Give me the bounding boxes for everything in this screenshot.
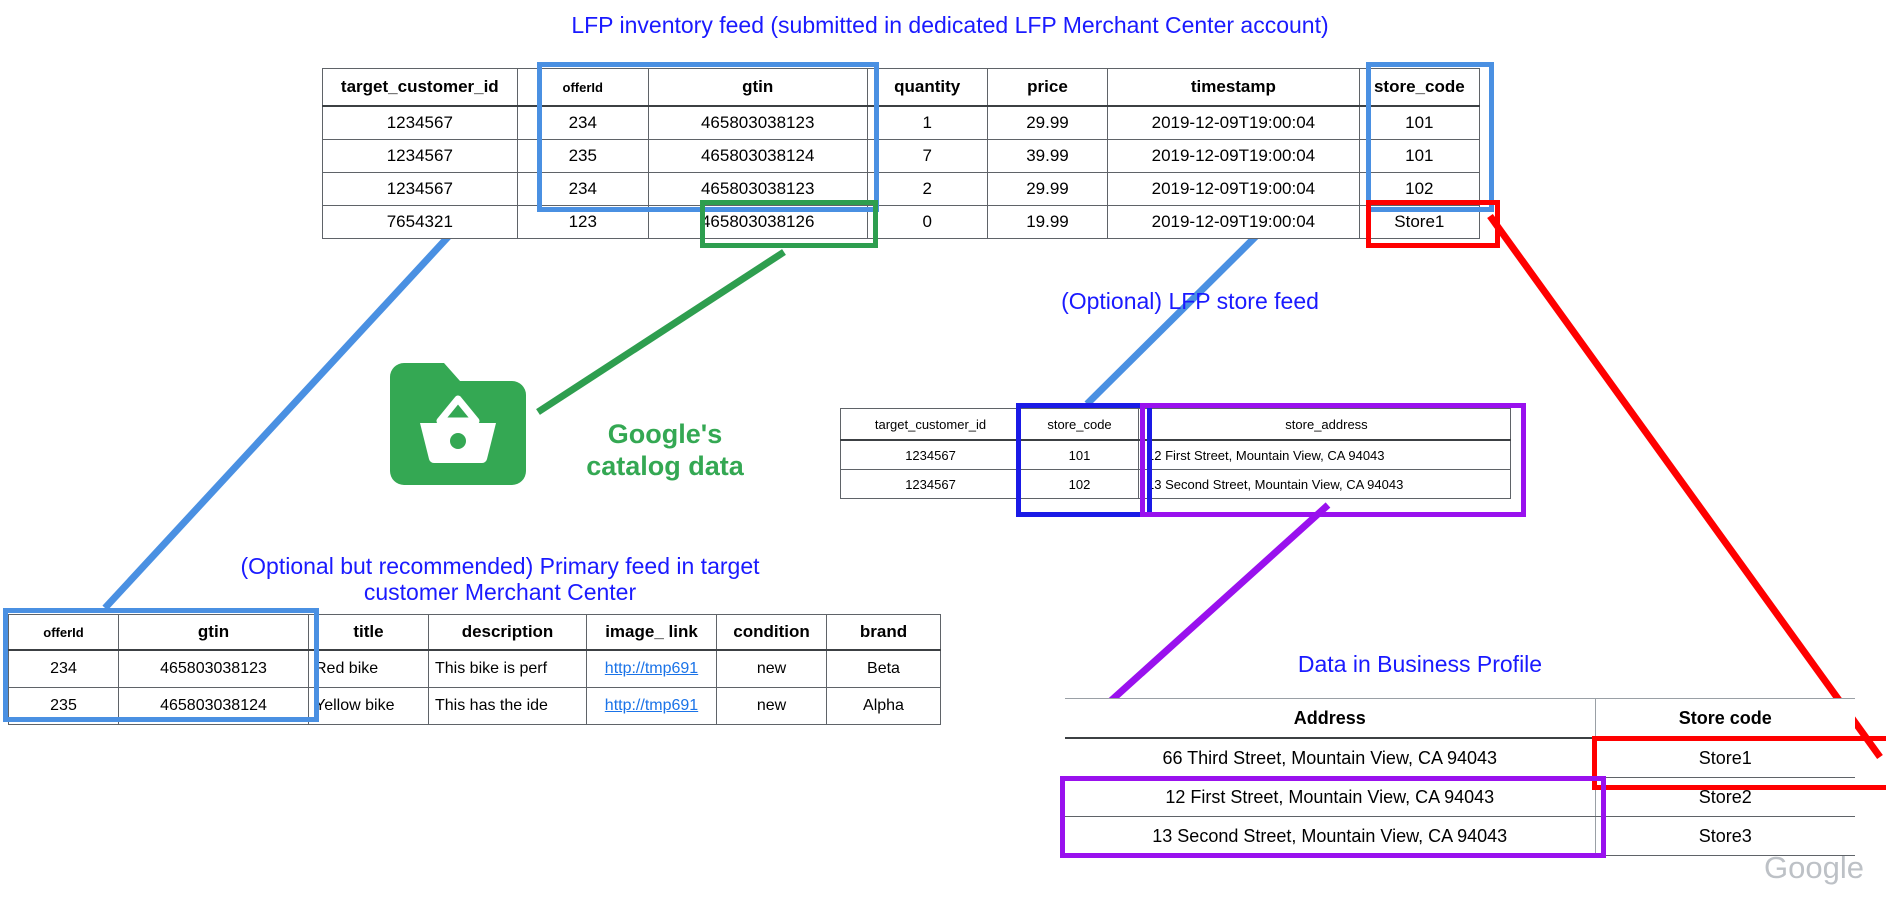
lfp-store-feed-table: target_customer_id store_code store_addr… bbox=[840, 408, 1511, 499]
google-watermark: Google bbox=[1764, 850, 1864, 886]
table-header-row: Address Store code bbox=[1065, 699, 1855, 739]
cell-gtin: 465803038124 bbox=[119, 688, 309, 725]
col-header-store-code: store_code bbox=[1021, 409, 1139, 441]
cell-gtin: 465803038123 bbox=[648, 106, 867, 140]
cell-gtin: 465803038126 bbox=[648, 206, 867, 239]
primary-feed-table: offerId gtin title description image_ li… bbox=[8, 614, 941, 725]
cell-quantity: 2 bbox=[867, 173, 987, 206]
connector-gtin-to-catalog bbox=[538, 252, 784, 412]
table-header-row: offerId gtin title description image_ li… bbox=[9, 615, 941, 651]
cell-offerid: 235 bbox=[517, 140, 648, 173]
cell-timestamp: 2019-12-09T19:00:04 bbox=[1108, 106, 1360, 140]
col-header-offerid: offerId bbox=[517, 69, 648, 107]
image-link[interactable]: http://tmp691 bbox=[605, 697, 698, 714]
table-row: 1234567 234 465803038123 2 29.99 2019-12… bbox=[323, 173, 1480, 206]
google-catalog-data-label: Google's catalog data bbox=[560, 418, 770, 483]
cell-store-code: 101 bbox=[1359, 106, 1479, 140]
cell-condition: new bbox=[717, 688, 827, 725]
cell-target-customer-id: 1234567 bbox=[323, 173, 518, 206]
cell-description: This has the ide bbox=[429, 688, 587, 725]
cell-timestamp: 2019-12-09T19:00:04 bbox=[1108, 140, 1360, 173]
col-header-store-address: store_address bbox=[1139, 409, 1511, 441]
cell-target-customer-id: 1234567 bbox=[841, 440, 1021, 470]
table-row: 1234567 235 465803038124 7 39.99 2019-12… bbox=[323, 140, 1480, 173]
table-header-row: target_customer_id store_code store_addr… bbox=[841, 409, 1511, 441]
cell-offerid: 234 bbox=[517, 173, 648, 206]
col-header-address: Address bbox=[1065, 699, 1595, 739]
cell-quantity: 7 bbox=[867, 140, 987, 173]
cell-quantity: 1 bbox=[867, 106, 987, 140]
cell-target-customer-id: 7654321 bbox=[323, 206, 518, 239]
cell-store-code: 102 bbox=[1021, 470, 1139, 499]
business-profile-table: Address Store code 66 Third Street, Moun… bbox=[1065, 698, 1855, 856]
table-row: 13 Second Street, Mountain View, CA 9404… bbox=[1065, 817, 1855, 856]
cell-target-customer-id: 1234567 bbox=[841, 470, 1021, 499]
cell-store-code: 101 bbox=[1359, 140, 1479, 173]
cell-brand: Alpha bbox=[827, 688, 941, 725]
cell-offerid: 235 bbox=[9, 688, 119, 725]
cell-address: 12 First Street, Mountain View, CA 94043 bbox=[1065, 778, 1595, 817]
cell-timestamp: 2019-12-09T19:00:04 bbox=[1108, 173, 1360, 206]
col-header-image-link: image_ link bbox=[587, 615, 717, 651]
cell-brand: Beta bbox=[827, 650, 941, 688]
caption-lfp-inventory-feed: LFP inventory feed (submitted in dedicat… bbox=[420, 12, 1480, 38]
cell-price: 39.99 bbox=[987, 140, 1107, 173]
cell-price: 29.99 bbox=[987, 106, 1107, 140]
cell-title: Red bike bbox=[309, 650, 429, 688]
col-header-timestamp: timestamp bbox=[1108, 69, 1360, 107]
cell-offerid: 123 bbox=[517, 206, 648, 239]
col-header-brand: brand bbox=[827, 615, 941, 651]
diagram-canvas: LFP inventory feed (submitted in dedicat… bbox=[0, 0, 1886, 900]
col-header-condition: condition bbox=[717, 615, 827, 651]
cell-store-code: Store1 bbox=[1595, 738, 1855, 778]
table-row: 66 Third Street, Mountain View, CA 94043… bbox=[1065, 738, 1855, 778]
col-header-description: description bbox=[429, 615, 587, 651]
cell-price: 19.99 bbox=[987, 206, 1107, 239]
cell-title: Yellow bike bbox=[309, 688, 429, 725]
cell-target-customer-id: 1234567 bbox=[323, 106, 518, 140]
col-header-target-customer-id: target_customer_id bbox=[323, 69, 518, 107]
cell-store-code: Store2 bbox=[1595, 778, 1855, 817]
image-link[interactable]: http://tmp691 bbox=[605, 660, 698, 677]
col-header-title: title bbox=[309, 615, 429, 651]
cell-offerid: 234 bbox=[517, 106, 648, 140]
cell-address: 13 Second Street, Mountain View, CA 9404… bbox=[1065, 817, 1595, 856]
col-header-price: price bbox=[987, 69, 1107, 107]
cell-gtin: 465803038123 bbox=[648, 173, 867, 206]
table-row: 12 First Street, Mountain View, CA 94043… bbox=[1065, 778, 1855, 817]
col-header-store-code: store_code bbox=[1359, 69, 1479, 107]
cell-quantity: 0 bbox=[867, 206, 987, 239]
cell-store-code: Store1 bbox=[1359, 206, 1479, 239]
table-row: 234 465803038123 Red bike This bike is p… bbox=[9, 650, 941, 688]
cell-gtin: 465803038124 bbox=[648, 140, 867, 173]
col-header-gtin: gtin bbox=[119, 615, 309, 651]
folder-basket-icon bbox=[382, 355, 534, 485]
col-header-quantity: quantity bbox=[867, 69, 987, 107]
col-header-store-code: Store code bbox=[1595, 699, 1855, 739]
cell-timestamp: 2019-12-09T19:00:04 bbox=[1108, 206, 1360, 239]
table-header-row: target_customer_id offerId gtin quantity… bbox=[323, 69, 1480, 107]
table-row: 235 465803038124 Yellow bike This has th… bbox=[9, 688, 941, 725]
caption-data-in-business-profile: Data in Business Profile bbox=[1180, 651, 1660, 677]
cell-image-link: http://tmp691 bbox=[587, 650, 717, 688]
col-header-target-customer-id: target_customer_id bbox=[841, 409, 1021, 441]
cell-address: 66 Third Street, Mountain View, CA 94043 bbox=[1065, 738, 1595, 778]
cell-image-link: http://tmp691 bbox=[587, 688, 717, 725]
col-header-gtin: gtin bbox=[648, 69, 867, 107]
cell-description: This bike is perf bbox=[429, 650, 587, 688]
lfp-inventory-feed-table: target_customer_id offerId gtin quantity… bbox=[322, 68, 1480, 239]
cell-condition: new bbox=[717, 650, 827, 688]
cell-store-address: 12 First Street, Mountain View, CA 94043 bbox=[1139, 440, 1511, 470]
table-row: 7654321 123 465803038126 0 19.99 2019-12… bbox=[323, 206, 1480, 239]
table-row: 1234567 234 465803038123 1 29.99 2019-12… bbox=[323, 106, 1480, 140]
cell-store-address: 13 Second Street, Mountain View, CA 9404… bbox=[1139, 470, 1511, 499]
caption-lfp-store-feed: (Optional) LFP store feed bbox=[940, 288, 1440, 314]
cell-store-code: 101 bbox=[1021, 440, 1139, 470]
cell-offerid: 234 bbox=[9, 650, 119, 688]
caption-primary-feed: (Optional but recommended) Primary feed … bbox=[170, 553, 830, 606]
cell-price: 29.99 bbox=[987, 173, 1107, 206]
table-row: 1234567 101 12 First Street, Mountain Vi… bbox=[841, 440, 1511, 470]
cell-gtin: 465803038123 bbox=[119, 650, 309, 688]
cell-store-code: 102 bbox=[1359, 173, 1479, 206]
col-header-offerid: offerId bbox=[9, 615, 119, 651]
table-row: 1234567 102 13 Second Street, Mountain V… bbox=[841, 470, 1511, 499]
cell-target-customer-id: 1234567 bbox=[323, 140, 518, 173]
